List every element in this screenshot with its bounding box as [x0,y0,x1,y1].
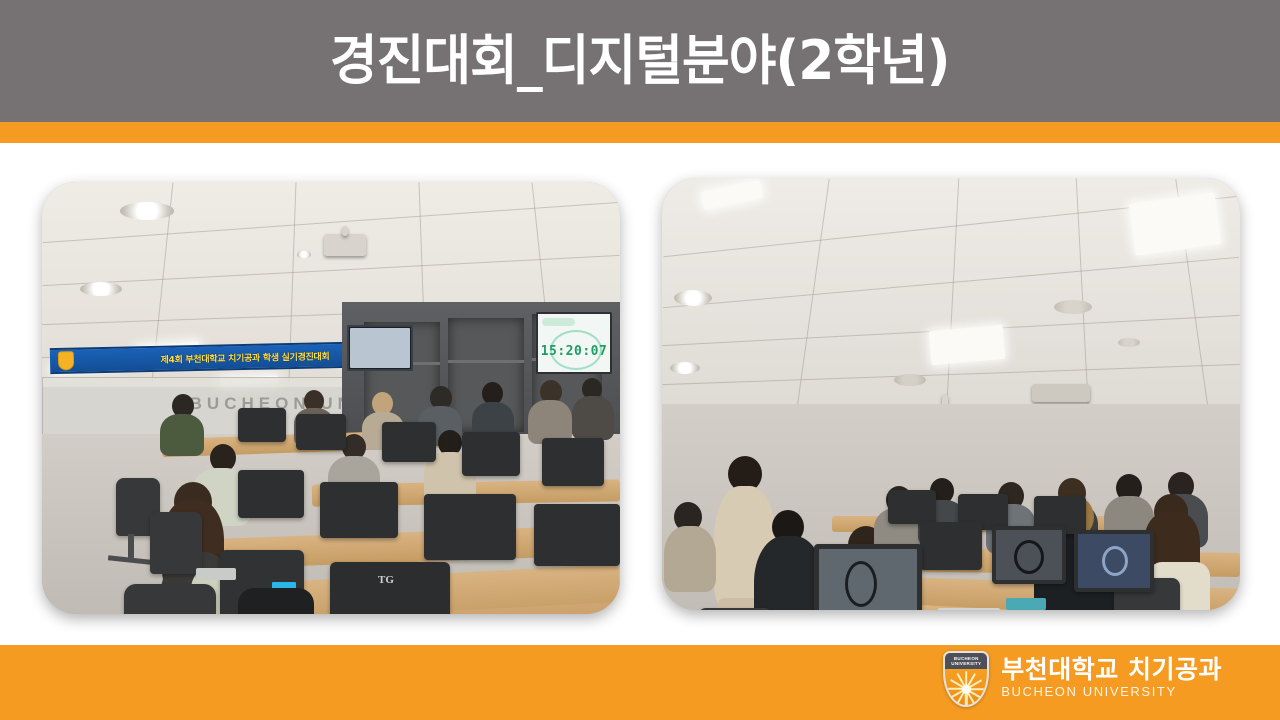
monitor [382,422,436,462]
student-body [160,414,204,456]
ceiling-downlight [80,282,122,296]
cad-screen-content [996,530,1062,580]
timer-value: 15:20:07 [538,344,610,359]
cad-screen-content [1078,534,1150,588]
ceiling-downlight [670,362,700,374]
keyboard [196,568,236,580]
classroom-scene-left: BUCHEON UNIVERSITY 제4회 부천대학교 치기공과 학생 실기경… [42,182,620,614]
sunburst-icon [946,669,986,707]
dental-arch-model [1014,540,1044,574]
ac-vent [1032,384,1090,402]
monitor [920,522,982,570]
shield-logo-line2: UNIVERSITY [951,661,981,667]
ceiling-projector [324,234,366,256]
banner-emblem-icon [58,351,74,370]
monitor [888,490,936,524]
shield-top-band: BUCHEON UNIVERSITY [945,653,987,669]
university-shield-logo-icon: BUCHEON UNIVERSITY [943,651,989,707]
monitor [296,414,346,450]
chair [150,512,202,574]
footer-brand: BUCHEON UNIVERSITY 부천대학교 치기공과 BUCHEON UN… [943,651,1222,707]
chair [698,608,772,610]
footer-brand-korean: 부천대학교 치기공과 [1001,657,1222,683]
chair-foreground [124,584,216,614]
ceiling-downlight [1054,300,1092,314]
backpack [238,588,314,614]
monitor [462,432,520,476]
monitor [238,408,286,442]
ceiling-panel-light [929,325,1006,365]
monitor-cad [1074,530,1154,592]
student-body [572,396,614,440]
monitor [424,494,516,560]
wall-display-left-content [350,328,410,368]
slide-header: 경진대회_디지털분야(2학년) [0,0,1280,122]
sunburst-core [962,685,971,694]
ceiling-downlight [674,290,712,306]
monitor [238,470,304,518]
keyboard [938,608,1000,610]
monitor [534,504,620,566]
mousepad [1006,598,1046,610]
ceiling-downlight [1118,338,1140,347]
ceiling-downlight [120,202,174,220]
monitor [542,438,604,486]
monitor [320,482,398,538]
photo-right[interactable]: 15:20:44 CAD EXAM SESSION 2nd YEAR DIGIT… [662,178,1240,610]
projector-mount [342,226,348,236]
ceiling-downlight [894,374,926,386]
classroom-scene-right: 15:20:44 CAD EXAM SESSION 2nd YEAR DIGIT… [662,178,1240,610]
cad-object [1102,546,1128,576]
footer-brand-english: BUCHEON UNIVERSITY [1001,684,1222,701]
monitor-back-tg [330,562,450,614]
dental-oval-model [845,561,877,607]
timer-label-pill [542,318,575,326]
cad-screen-content [819,549,917,610]
photo-left[interactable]: BUCHEON UNIVERSITY 제4회 부천대학교 치기공과 학생 실기경… [42,182,620,614]
footer-brand-text: 부천대학교 치기공과 BUCHEON UNIVERSITY [1001,657,1222,700]
page-title: 경진대회_디지털분야(2학년) [330,34,950,88]
ceiling-downlight [297,250,311,259]
event-banner-text: 제4회 부천대학교 치기공과 학생 실기경진대회 [160,349,329,366]
wall-timer-display: 15:20:07 [536,312,612,374]
monitor-brand-label: TG [378,574,394,586]
shelf-divider [448,360,524,363]
monitor-cad [992,526,1066,584]
header-accent-stripe [0,122,1280,143]
student-body [664,526,716,592]
monitor-cad-foreground [814,544,922,610]
